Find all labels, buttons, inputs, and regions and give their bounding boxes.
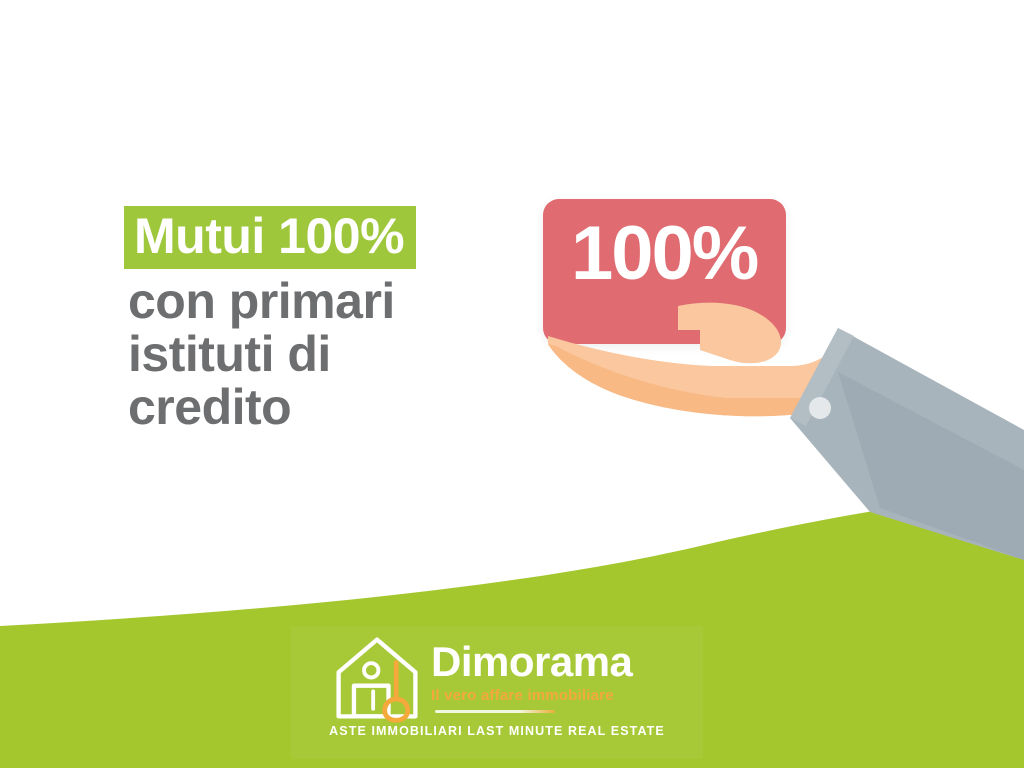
brand-logo-lockup[interactable]: Dimorama Il vero affare immobiliare ASTE… xyxy=(291,626,703,759)
cuff-button-icon xyxy=(809,397,831,419)
percent-badge-value: 100% xyxy=(571,216,757,292)
headline-line-3: credito xyxy=(128,381,548,434)
house-key-logo-icon xyxy=(329,630,425,726)
sleeve-shadow xyxy=(838,372,1024,560)
logo-row: Dimorama Il vero affare immobiliare xyxy=(291,626,632,726)
logo-underline-rule xyxy=(435,710,555,713)
headline-line-1: con primari xyxy=(128,275,548,328)
logo-footer-text: ASTE IMMOBILIARI LAST MINUTE REAL ESTATE xyxy=(291,724,703,739)
logo-brand-name: Dimorama xyxy=(431,641,632,683)
keyhole-circle-icon xyxy=(364,663,378,677)
logo-tagline: Il vero affare immobiliare xyxy=(431,687,632,705)
headline-lines: con primari istituti di credito xyxy=(128,275,548,434)
percent-badge-card: 100% xyxy=(543,199,786,344)
headline-highlight: Mutui 100% xyxy=(124,206,416,269)
sleeve xyxy=(790,328,1024,560)
cuff-edge xyxy=(790,328,854,426)
palm xyxy=(548,336,876,420)
logo-wordmark-block: Dimorama Il vero affare immobiliare xyxy=(431,641,632,713)
palm-shadow xyxy=(548,344,830,416)
promo-banner: Mutui 100% con primari istituti di credi… xyxy=(0,0,1024,768)
headline-block: Mutui 100% con primari istituti di credi… xyxy=(128,206,548,434)
headline-line-2: istituti di xyxy=(128,328,548,381)
